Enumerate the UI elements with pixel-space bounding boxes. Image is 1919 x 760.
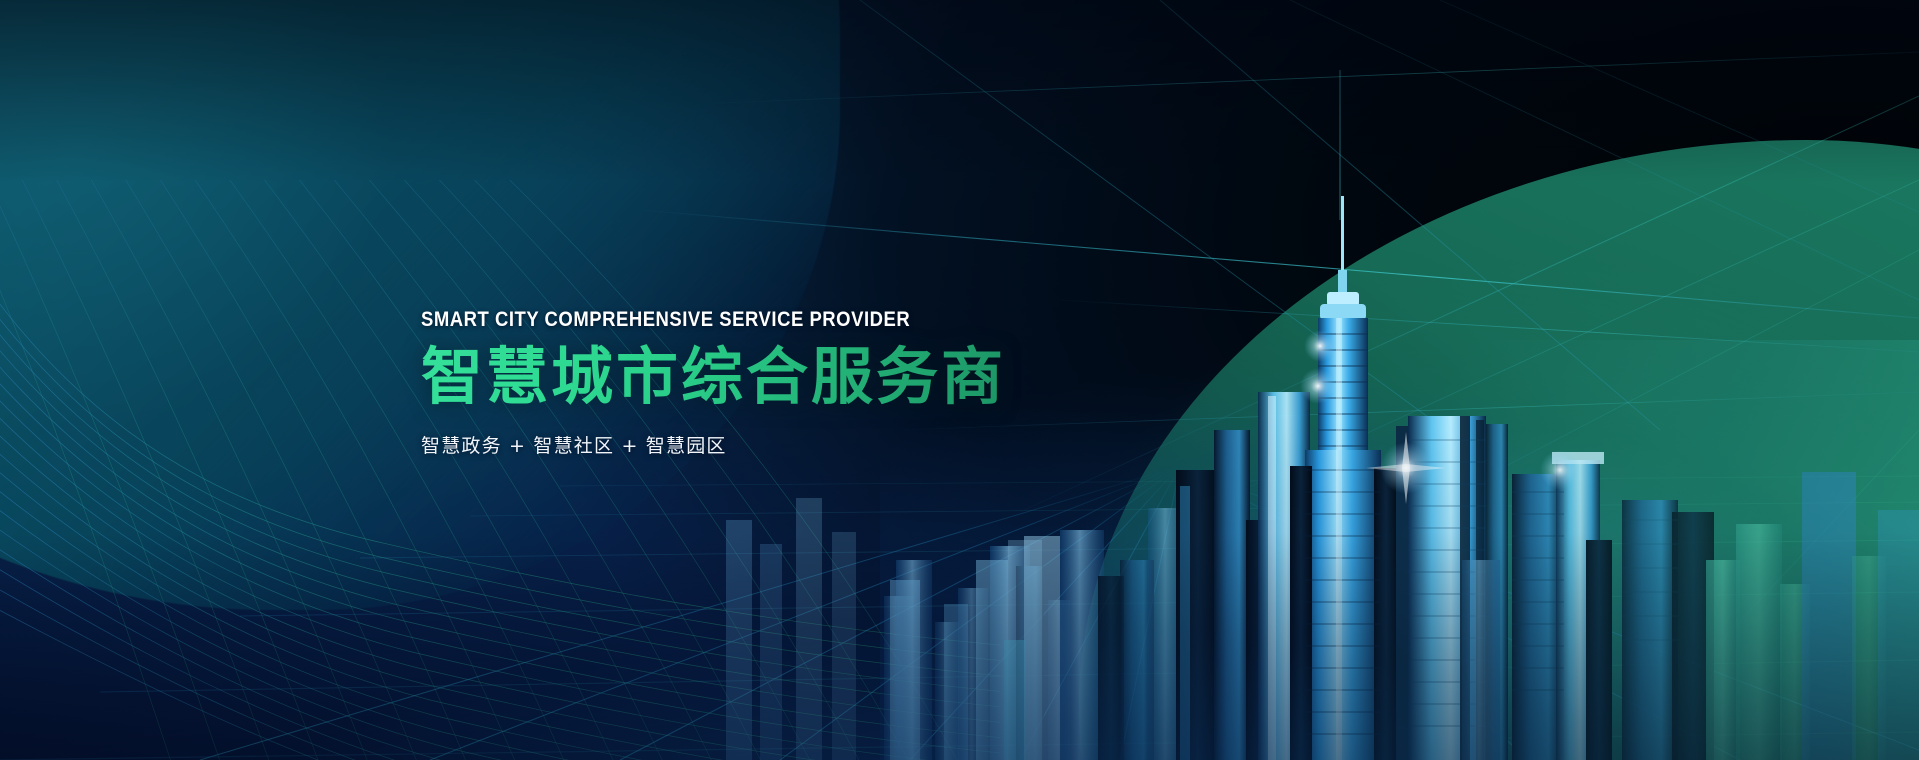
hero-copy-block: SMART CITY COMPREHENSIVE SERVICE PROVIDE… — [421, 309, 1181, 458]
hero-headline: 智慧城市综合服务商 — [421, 344, 1181, 409]
hero-subheadline: 智慧政务 + 智慧社区 + 智慧园区 — [421, 431, 1181, 458]
green-haze-overlay — [1199, 340, 1919, 760]
hero-eyebrow: SMART CITY COMPREHENSIVE SERVICE PROVIDE… — [421, 309, 1090, 330]
smart-city-hero-banner: SMART CITY COMPREHENSIVE SERVICE PROVIDE… — [0, 0, 1919, 760]
